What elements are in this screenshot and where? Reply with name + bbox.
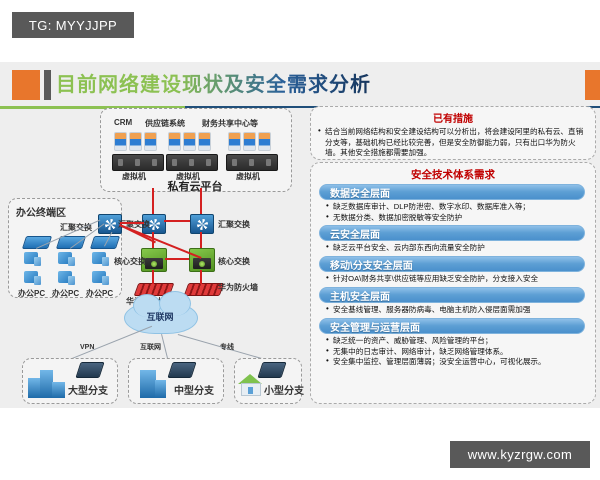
vm-app-icon [228, 132, 241, 151]
vm-app-icon [168, 132, 181, 151]
fw-link [200, 270, 202, 284]
requirement-item: 安全集中监控、管理层面薄弱；没安全运营中心，可视化展示。 [325, 357, 587, 368]
vm-app-icon [129, 132, 142, 151]
core-switch-label-right: 核心交换 [218, 256, 250, 267]
agg-switch-label-right: 汇聚交换 [218, 219, 250, 230]
branch-label-medium: 中型分支 [174, 382, 214, 397]
existing-measures-heading: 已有措施 [311, 110, 595, 125]
page-title: 目前网络建设现状及安全需求分析 [56, 70, 371, 100]
app-label-finance: 财务共享中心等 [202, 118, 258, 129]
title-gray-block [44, 70, 51, 100]
title-orange-block-right [585, 70, 600, 100]
house-icon [238, 374, 262, 394]
network-topology-diagram: CRM 供应链系统 财务共享中心等 虚拟机 虚拟机 虚拟机 私有云平台 办公终端… [2, 106, 302, 406]
section-header-data-security[interactable]: 数据安全层面 [319, 184, 585, 200]
server-rack-icon [166, 154, 218, 171]
office-pc-icon [92, 271, 110, 286]
section-header-management-operations[interactable]: 安全管理与运营层面 [319, 318, 585, 334]
requirement-item: 针对OA\财务共享\供应链等应用缺乏安全防护，分支接入安全 [325, 274, 587, 285]
vm-app-icon [243, 132, 256, 151]
app-label-crm: CRM [114, 118, 132, 127]
aggregation-switch-right-icon [190, 214, 214, 234]
vm-app-icon [198, 132, 211, 151]
private-cloud-title: 私有云平台 [100, 178, 290, 194]
server-rack-icon [226, 154, 278, 171]
requirements-panel: 已有措施 结合当前网络结构和安全建设结构可以分析出，将会建设阿里的私有云、直销分… [310, 106, 596, 406]
branch-label-small: 小型分支 [264, 382, 304, 397]
top-watermark-tag: TG: MYYJJPP [12, 12, 134, 38]
requirement-item: 缺乏数据库审计、DLP防泄密、数字水印、数据库准入等； [325, 202, 587, 213]
section-header-mobile-branch-security[interactable]: 移动\分支安全层面 [319, 256, 585, 272]
bottom-watermark-tag: www.kyzrgw.com [450, 441, 590, 468]
slide-title-bar: 目前网络建设现状及安全需求分析 [0, 68, 600, 104]
office-pc-icon [24, 271, 42, 286]
requirement-item: 缺乏云平台安全、云内部东西向流量安全防护 [325, 243, 587, 254]
office-tower-icon [28, 368, 68, 398]
office-switch-label: 汇聚交换 [60, 222, 92, 233]
office-building-icon [134, 368, 172, 398]
requirement-item: 安全基线管理、服务器防病毒、电脑主机防入侵层面需加强 [325, 305, 587, 316]
link-label-vpn: VPN [80, 344, 94, 351]
vm-app-icon [114, 132, 127, 151]
existing-measures-box: 已有措施 结合当前网络结构和安全建设结构可以分析出，将会建设阿里的私有云、直销分… [310, 106, 596, 160]
link-label-internet: 互联网 [140, 342, 161, 352]
requirement-item: 缺乏统一的资产、威胁管理、风险管理的平台； [325, 336, 587, 347]
branch-label-large: 大型分支 [68, 382, 108, 397]
trunk-link [152, 188, 154, 214]
trunk-link [200, 232, 202, 248]
office-pc-icon [92, 252, 110, 267]
trunk-link [200, 188, 202, 214]
vm-app-icon [258, 132, 271, 151]
core-switch-label-left: 核心交换 [114, 256, 146, 267]
server-rack-icon [112, 154, 164, 171]
office-pc-label-2: 办公PC [52, 288, 79, 299]
title-orange-block-left [12, 70, 40, 100]
existing-measures-text: 结合当前网络结构和安全建设结构可以分析出，将会建设阿里的私有云、直销分支等，基础… [317, 127, 589, 159]
requirement-item: 无集中的日志审计、网络审计，缺乏网络管理体系。 [325, 347, 587, 358]
slide-canvas: 目前网络建设现状及安全需求分析 CRM 供应链系统 财务共享中心等 虚拟机 [0, 62, 600, 408]
security-requirements-box: 安全技术体系需求 数据安全层面 缺乏数据库审计、DLP防泄密、数字水印、数据库准… [310, 162, 596, 404]
fw-link [152, 270, 154, 284]
office-pc-icon [58, 252, 76, 267]
firewall-label-right: 华为防火墙 [218, 282, 258, 293]
vm-app-icon [144, 132, 157, 151]
app-label-supply-chain: 供应链系统 [145, 118, 185, 129]
section-header-cloud-security[interactable]: 云安全层面 [319, 225, 585, 241]
office-area-title: 办公终端区 [16, 204, 66, 219]
office-pc-label-1: 办公PC [18, 288, 45, 299]
office-pc-icon [58, 271, 76, 286]
trunk-link [164, 220, 190, 222]
security-requirements-heading: 安全技术体系需求 [311, 167, 595, 182]
requirement-item: 无数据分类、数据加密脱敏等安全防护 [325, 213, 587, 224]
branch-link [161, 334, 168, 359]
internet-cloud-label: 互联网 [124, 310, 196, 323]
link-label-leased-line: 专线 [220, 342, 234, 352]
office-pc-icon [24, 252, 42, 267]
section-header-host-security[interactable]: 主机安全层面 [319, 287, 585, 303]
office-uplink [120, 222, 144, 224]
core-switch-right-icon [189, 248, 215, 272]
vm-app-icon [183, 132, 196, 151]
office-pc-label-3: 办公PC [86, 288, 113, 299]
trunk-link [165, 258, 189, 260]
